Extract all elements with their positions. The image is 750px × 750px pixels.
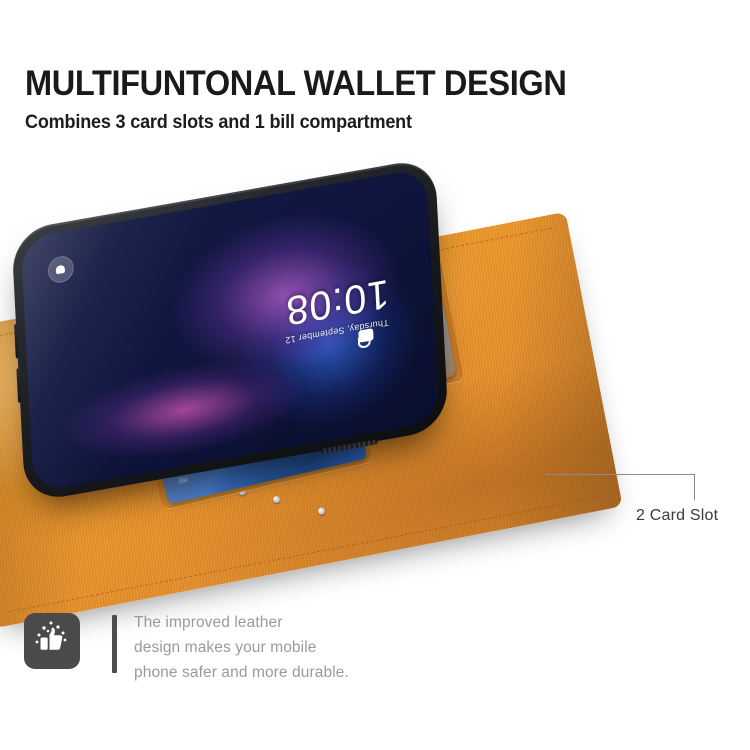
feature-block: The improved leather design makes your m… <box>24 610 724 700</box>
callout-leader-horizontal <box>545 474 695 475</box>
feature-line: design makes your mobile <box>134 635 349 660</box>
flashlight-icon[interactable] <box>47 254 74 285</box>
page-title: MULTIFUNTONAL WALLET DESIGN <box>25 66 676 101</box>
feature-line: phone safer and more durable. <box>134 660 349 685</box>
feature-description: The improved leather design makes your m… <box>134 610 349 685</box>
power-button[interactable] <box>16 368 21 403</box>
callout-leader-vertical <box>694 474 695 500</box>
thumbs-up-icon <box>24 613 80 669</box>
feature-divider <box>112 615 117 673</box>
callout-label-card-slot: 2 Card Slot <box>636 507 718 525</box>
volume-button[interactable] <box>14 324 19 359</box>
header-block: MULTIFUNTONAL WALLET DESIGN Combines 3 c… <box>25 66 725 134</box>
page-subtitle: Combines 3 card slots and 1 bill compart… <box>25 112 690 134</box>
feature-line: The improved leather <box>134 610 349 635</box>
